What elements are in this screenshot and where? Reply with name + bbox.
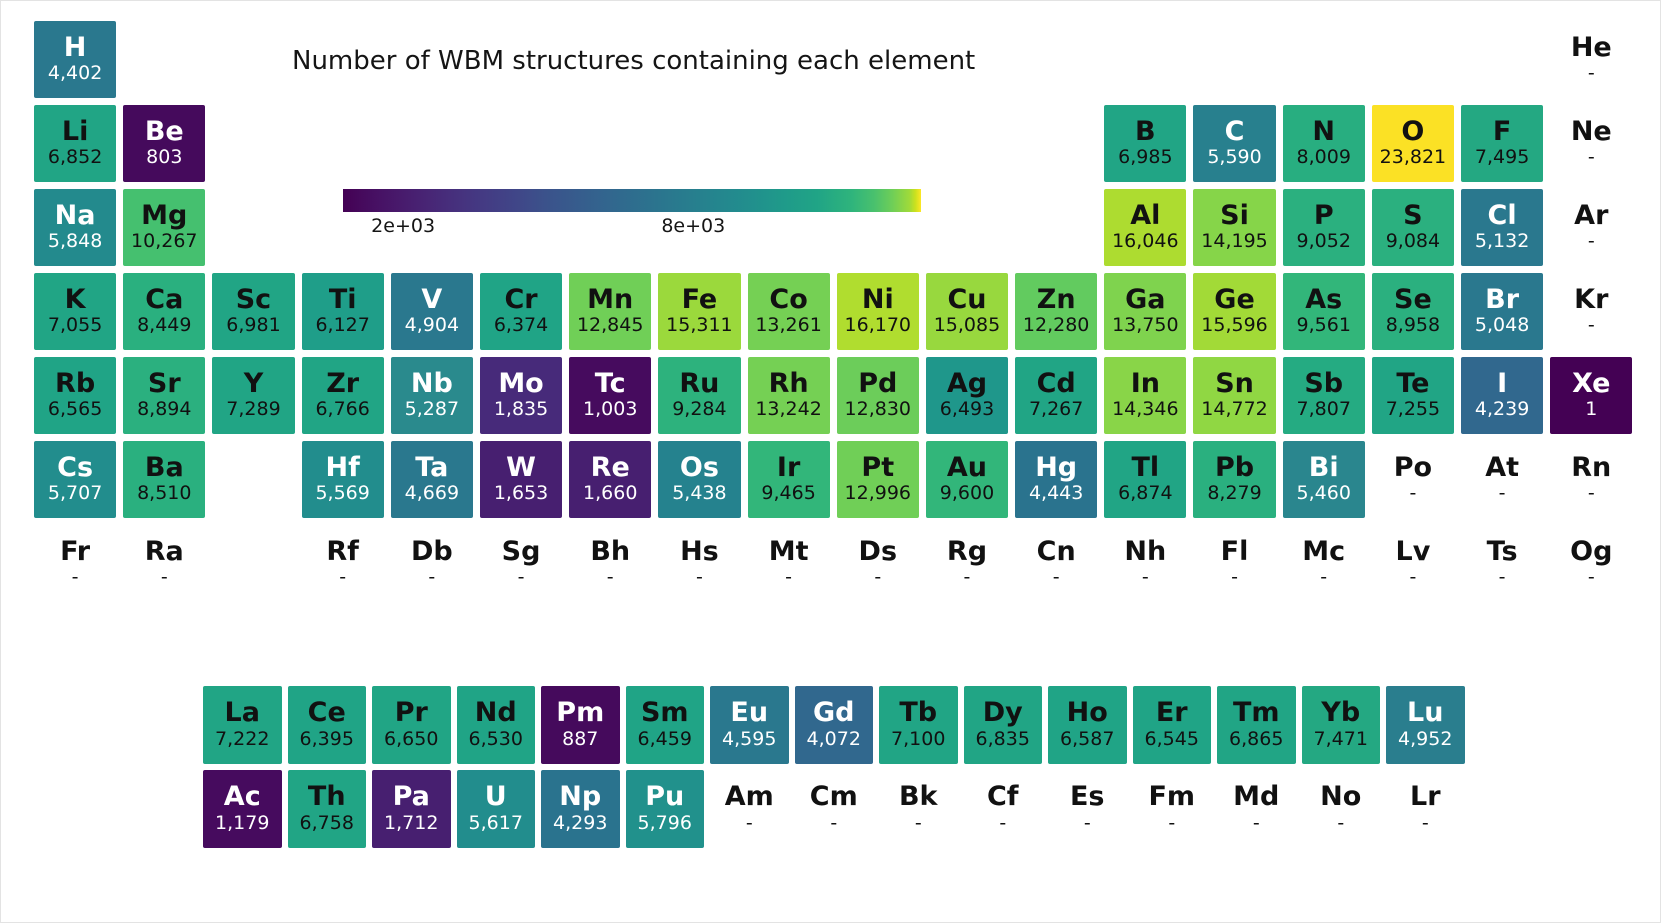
- element-value: 5,617: [469, 813, 523, 835]
- element-symbol: Cl: [1488, 202, 1517, 230]
- element-value: 7,055: [48, 315, 102, 337]
- element-value: 4,402: [48, 63, 102, 85]
- element-cell-i[interactable]: I4,239: [1461, 357, 1543, 434]
- element-cell-pm[interactable]: Pm887: [541, 686, 620, 764]
- element-value: -: [161, 567, 168, 589]
- element-symbol: Rb: [55, 370, 95, 398]
- element-symbol: Na: [55, 202, 96, 230]
- element-symbol: La: [225, 699, 260, 727]
- element-cell-lr[interactable]: Lr-: [1386, 770, 1465, 848]
- element-value: -: [1231, 567, 1238, 589]
- element-symbol: Am: [725, 783, 774, 811]
- element-value: 6,874: [1118, 483, 1172, 505]
- element-value: 6,650: [384, 729, 438, 751]
- element-value: -: [964, 567, 971, 589]
- element-value: 9,465: [761, 483, 815, 505]
- element-symbol: Tl: [1132, 454, 1160, 482]
- element-value: -: [1588, 63, 1595, 85]
- element-symbol: Bk: [899, 783, 938, 811]
- element-cell-sb[interactable]: Sb7,807: [1283, 357, 1365, 434]
- element-cell-sc[interactable]: Sc6,981: [212, 273, 294, 350]
- element-value: 6,493: [940, 399, 994, 421]
- element-symbol: Zn: [1037, 286, 1076, 314]
- element-cell-nd[interactable]: Nd6,530: [457, 686, 536, 764]
- element-symbol: Cs: [57, 454, 93, 482]
- periodic-table-heatmap: Number of WBM structures containing each…: [0, 0, 1661, 923]
- element-value: 6,766: [315, 399, 369, 421]
- element-value: -: [339, 567, 346, 589]
- element-value: 803: [146, 147, 182, 169]
- element-cell-rf[interactable]: Rf-: [302, 525, 384, 602]
- element-symbol: Sb: [1304, 370, 1343, 398]
- f-block-grid: La7,222Ce6,395Pr6,650Nd6,530Pm887Sm6,459…: [203, 686, 1471, 854]
- element-cell-ir[interactable]: Ir9,465: [748, 441, 830, 518]
- element-symbol: Ac: [224, 783, 261, 811]
- element-symbol: Md: [1233, 783, 1279, 811]
- element-value: -: [1588, 567, 1595, 589]
- element-value: -: [1422, 813, 1429, 835]
- element-value: 12,996: [845, 483, 911, 505]
- element-symbol: H: [64, 34, 87, 62]
- element-cell-ho[interactable]: Ho6,587: [1048, 686, 1127, 764]
- element-cell-pa[interactable]: Pa1,712: [372, 770, 451, 848]
- element-value: 7,471: [1314, 729, 1368, 751]
- element-symbol: Hs: [680, 538, 719, 566]
- element-symbol: Os: [680, 454, 719, 482]
- element-value: 7,495: [1475, 147, 1529, 169]
- element-value: 14,346: [1112, 399, 1178, 421]
- element-cell-u[interactable]: U5,617: [457, 770, 536, 848]
- element-symbol: S: [1403, 202, 1422, 230]
- element-symbol: Au: [947, 454, 987, 482]
- element-value: 7,289: [226, 399, 280, 421]
- element-cell-md[interactable]: Md-: [1217, 770, 1296, 848]
- element-symbol: Po: [1394, 454, 1432, 482]
- element-cell-ta[interactable]: Ta4,669: [391, 441, 473, 518]
- element-value: 7,267: [1029, 399, 1083, 421]
- element-symbol: Be: [145, 118, 184, 146]
- element-cell-br[interactable]: Br5,048: [1461, 273, 1543, 350]
- element-value: 1,835: [494, 399, 548, 421]
- element-cell-lu[interactable]: Lu4,952: [1386, 686, 1465, 764]
- element-cell-xe[interactable]: Xe1: [1550, 357, 1632, 434]
- element-symbol: No: [1320, 783, 1361, 811]
- element-cell-v[interactable]: V4,904: [391, 273, 473, 350]
- element-value: -: [696, 567, 703, 589]
- element-value: 6,852: [48, 147, 102, 169]
- element-cell-k[interactable]: K7,055: [34, 273, 116, 350]
- element-value: 8,279: [1207, 483, 1261, 505]
- element-cell-pd[interactable]: Pd12,830: [837, 357, 919, 434]
- element-symbol: Pd: [858, 370, 897, 398]
- element-value: 8,449: [137, 315, 191, 337]
- element-cell-cn[interactable]: Cn-: [1015, 525, 1097, 602]
- element-symbol: Te: [1396, 370, 1429, 398]
- element-value: 5,848: [48, 231, 102, 253]
- element-cell-po[interactable]: Po-: [1372, 441, 1454, 518]
- element-cell-th[interactable]: Th6,758: [288, 770, 367, 848]
- element-value: 5,707: [48, 483, 102, 505]
- element-symbol: Co: [769, 286, 807, 314]
- element-cell-ca[interactable]: Ca8,449: [123, 273, 205, 350]
- element-symbol: Nb: [411, 370, 453, 398]
- element-cell-te[interactable]: Te7,255: [1372, 357, 1454, 434]
- element-cell-os[interactable]: Os5,438: [658, 441, 740, 518]
- element-symbol: Y: [244, 370, 264, 398]
- element-cell-au[interactable]: Au9,600: [926, 441, 1008, 518]
- element-cell-pt[interactable]: Pt12,996: [837, 441, 919, 518]
- element-symbol: F: [1493, 118, 1511, 146]
- element-cell-rn[interactable]: Rn-: [1550, 441, 1632, 518]
- element-cell-ne[interactable]: Ne-: [1550, 105, 1632, 182]
- element-cell-zr[interactable]: Zr6,766: [302, 357, 384, 434]
- element-value: 4,904: [405, 315, 459, 337]
- element-value: -: [1588, 315, 1595, 337]
- element-symbol: Se: [1394, 286, 1432, 314]
- element-value: 6,985: [1118, 147, 1172, 169]
- element-symbol: Si: [1220, 202, 1249, 230]
- element-symbol: Rf: [326, 538, 359, 566]
- element-cell-eu[interactable]: Eu4,595: [710, 686, 789, 764]
- element-cell-hg[interactable]: Hg4,443: [1015, 441, 1097, 518]
- element-cell-tb[interactable]: Tb7,100: [879, 686, 958, 764]
- element-value: 8,510: [137, 483, 191, 505]
- element-symbol: Pa: [393, 783, 430, 811]
- element-value: -: [746, 813, 753, 835]
- element-value: 10,267: [131, 231, 197, 253]
- element-symbol: Er: [1156, 699, 1188, 727]
- element-cell-am[interactable]: Am-: [710, 770, 789, 848]
- element-cell-ni[interactable]: Ni16,170: [837, 273, 919, 350]
- element-symbol: Ra: [145, 538, 184, 566]
- element-cell-mn[interactable]: Mn12,845: [569, 273, 651, 350]
- element-cell-kr[interactable]: Kr-: [1550, 273, 1632, 350]
- element-value: 6,865: [1229, 729, 1283, 751]
- element-cell-ag[interactable]: Ag6,493: [926, 357, 1008, 434]
- element-cell-w[interactable]: W1,653: [480, 441, 562, 518]
- element-value: 13,261: [755, 315, 821, 337]
- element-symbol: Rh: [769, 370, 809, 398]
- element-value: 8,009: [1297, 147, 1351, 169]
- element-cell-na[interactable]: Na5,848: [34, 189, 116, 266]
- element-value: 15,596: [1201, 315, 1267, 337]
- element-cell-hs[interactable]: Hs-: [658, 525, 740, 602]
- element-symbol: N: [1312, 118, 1335, 146]
- element-cell-ce[interactable]: Ce6,395: [288, 686, 367, 764]
- element-symbol: Ce: [308, 699, 346, 727]
- element-value: 9,600: [940, 483, 994, 505]
- main-table-grid: H4,402He-Li6,852Be803B6,985C5,590N8,009O…: [34, 21, 1639, 609]
- element-cell-fe[interactable]: Fe15,311: [658, 273, 740, 350]
- element-value: 5,590: [1207, 147, 1261, 169]
- element-symbol: Ar: [1574, 202, 1608, 230]
- element-cell-cr[interactable]: Cr6,374: [480, 273, 562, 350]
- element-cell-ti[interactable]: Ti6,127: [302, 273, 384, 350]
- element-cell-er[interactable]: Er6,545: [1133, 686, 1212, 764]
- element-cell-rg[interactable]: Rg-: [926, 525, 1008, 602]
- element-cell-ge[interactable]: Ge15,596: [1193, 273, 1275, 350]
- element-value: 5,287: [405, 399, 459, 421]
- element-cell-rh[interactable]: Rh13,242: [748, 357, 830, 434]
- element-value: 6,758: [300, 813, 354, 835]
- element-cell-og[interactable]: Og-: [1550, 525, 1632, 602]
- element-symbol: Th: [308, 783, 346, 811]
- element-value: -: [72, 567, 79, 589]
- element-symbol: Ni: [862, 286, 894, 314]
- element-cell-mg[interactable]: Mg10,267: [123, 189, 205, 266]
- element-symbol: Np: [559, 783, 601, 811]
- element-value: 16,170: [845, 315, 911, 337]
- element-cell-db[interactable]: Db-: [391, 525, 473, 602]
- element-cell-mo[interactable]: Mo1,835: [480, 357, 562, 434]
- element-cell-be[interactable]: Be803: [123, 105, 205, 182]
- element-cell-gd[interactable]: Gd4,072: [795, 686, 874, 764]
- element-cell-f[interactable]: F7,495: [1461, 105, 1543, 182]
- element-cell-pu[interactable]: Pu5,796: [626, 770, 705, 848]
- element-symbol: Tb: [899, 699, 937, 727]
- element-cell-as[interactable]: As9,561: [1283, 273, 1365, 350]
- element-value: 13,242: [755, 399, 821, 421]
- element-value: 8,958: [1386, 315, 1440, 337]
- element-cell-si[interactable]: Si14,195: [1193, 189, 1275, 266]
- element-cell-cl[interactable]: Cl5,132: [1461, 189, 1543, 266]
- element-cell-c[interactable]: C5,590: [1193, 105, 1275, 182]
- element-value: 5,569: [315, 483, 369, 505]
- element-value: 16,046: [1112, 231, 1178, 253]
- element-symbol: As: [1305, 286, 1342, 314]
- element-cell-fr[interactable]: Fr-: [34, 525, 116, 602]
- element-symbol: Pb: [1215, 454, 1254, 482]
- element-cell-fm[interactable]: Fm-: [1133, 770, 1212, 848]
- element-cell-ba[interactable]: Ba8,510: [123, 441, 205, 518]
- element-symbol: V: [421, 286, 442, 314]
- element-cell-nb[interactable]: Nb5,287: [391, 357, 473, 434]
- element-value: 6,981: [226, 315, 280, 337]
- element-cell-la[interactable]: La7,222: [203, 686, 282, 764]
- element-cell-bi[interactable]: Bi5,460: [1283, 441, 1365, 518]
- element-symbol: Og: [1570, 538, 1612, 566]
- element-value: 12,845: [577, 315, 643, 337]
- element-value: -: [1084, 813, 1091, 835]
- element-cell-zn[interactable]: Zn12,280: [1015, 273, 1097, 350]
- element-value: -: [1337, 813, 1344, 835]
- element-value: -: [1588, 231, 1595, 253]
- element-value: -: [1409, 483, 1416, 505]
- element-value: 9,084: [1386, 231, 1440, 253]
- element-value: -: [1588, 483, 1595, 505]
- element-cell-he[interactable]: He-: [1550, 21, 1632, 98]
- element-value: 4,952: [1398, 729, 1452, 751]
- element-symbol: Pu: [645, 783, 684, 811]
- element-cell-n[interactable]: N8,009: [1283, 105, 1365, 182]
- element-value: 5,460: [1297, 483, 1351, 505]
- element-value: 1,712: [384, 813, 438, 835]
- element-cell-b[interactable]: B6,985: [1104, 105, 1186, 182]
- element-symbol: Rn: [1571, 454, 1611, 482]
- element-value: 6,374: [494, 315, 548, 337]
- element-value: -: [830, 813, 837, 835]
- element-value: 6,565: [48, 399, 102, 421]
- element-symbol: Cd: [1037, 370, 1076, 398]
- element-cell-se[interactable]: Se8,958: [1372, 273, 1454, 350]
- element-value: -: [428, 567, 435, 589]
- element-value: 14,772: [1201, 399, 1267, 421]
- element-cell-ra[interactable]: Ra-: [123, 525, 205, 602]
- element-cell-p[interactable]: P9,052: [1283, 189, 1365, 266]
- element-cell-cd[interactable]: Cd7,267: [1015, 357, 1097, 434]
- element-value: 7,100: [891, 729, 945, 751]
- element-cell-mc[interactable]: Mc-: [1283, 525, 1365, 602]
- element-cell-cf[interactable]: Cf-: [964, 770, 1043, 848]
- element-cell-h[interactable]: H4,402: [34, 21, 116, 98]
- element-symbol: Tm: [1233, 699, 1280, 727]
- element-value: 9,561: [1297, 315, 1351, 337]
- element-value: -: [1142, 567, 1149, 589]
- element-value: 1,179: [215, 813, 269, 835]
- element-cell-cm[interactable]: Cm-: [795, 770, 874, 848]
- element-cell-ds[interactable]: Ds-: [837, 525, 919, 602]
- element-symbol: Cn: [1037, 538, 1076, 566]
- element-symbol: Ds: [859, 538, 897, 566]
- element-cell-al[interactable]: Al16,046: [1104, 189, 1186, 266]
- element-cell-tc[interactable]: Tc1,003: [569, 357, 651, 434]
- element-value: -: [1168, 813, 1175, 835]
- element-symbol: Lu: [1407, 699, 1443, 727]
- element-value: 5,048: [1475, 315, 1529, 337]
- element-symbol: Mg: [141, 202, 187, 230]
- element-symbol: C: [1225, 118, 1245, 146]
- element-cell-pr[interactable]: Pr6,650: [372, 686, 451, 764]
- element-value: -: [1499, 567, 1506, 589]
- element-symbol: Sc: [236, 286, 271, 314]
- element-symbol: Dy: [983, 699, 1023, 727]
- element-value: -: [999, 813, 1006, 835]
- element-cell-ts[interactable]: Ts-: [1461, 525, 1543, 602]
- element-cell-cs[interactable]: Cs5,707: [34, 441, 116, 518]
- element-cell-es[interactable]: Es-: [1048, 770, 1127, 848]
- element-cell-mt[interactable]: Mt-: [748, 525, 830, 602]
- element-cell-li[interactable]: Li6,852: [34, 105, 116, 182]
- element-symbol: Hf: [325, 454, 359, 482]
- element-cell-yb[interactable]: Yb7,471: [1302, 686, 1381, 764]
- element-value: 9,284: [672, 399, 726, 421]
- element-symbol: Tc: [595, 370, 626, 398]
- element-symbol: Sg: [502, 538, 541, 566]
- element-symbol: Bi: [1309, 454, 1339, 482]
- element-value: -: [1409, 567, 1416, 589]
- element-value: 4,595: [722, 729, 776, 751]
- element-cell-o[interactable]: O23,821: [1372, 105, 1454, 182]
- element-value: 4,072: [807, 729, 861, 751]
- element-value: 5,438: [672, 483, 726, 505]
- element-symbol: Al: [1130, 202, 1160, 230]
- element-symbol: Lr: [1410, 783, 1441, 811]
- element-cell-bh[interactable]: Bh-: [569, 525, 651, 602]
- element-symbol: Sm: [641, 699, 689, 727]
- element-cell-rb[interactable]: Rb6,565: [34, 357, 116, 434]
- element-symbol: At: [1485, 454, 1519, 482]
- element-cell-sg[interactable]: Sg-: [480, 525, 562, 602]
- element-value: 6,587: [1060, 729, 1114, 751]
- element-value: 4,443: [1029, 483, 1083, 505]
- element-symbol: Fe: [682, 286, 718, 314]
- element-symbol: Xe: [1572, 370, 1610, 398]
- element-symbol: Rg: [947, 538, 987, 566]
- element-cell-np[interactable]: Np4,293: [541, 770, 620, 848]
- element-cell-y[interactable]: Y7,289: [212, 357, 294, 434]
- element-cell-tl[interactable]: Tl6,874: [1104, 441, 1186, 518]
- element-symbol: Kr: [1574, 286, 1608, 314]
- element-cell-dy[interactable]: Dy6,835: [964, 686, 1043, 764]
- element-cell-at[interactable]: At-: [1461, 441, 1543, 518]
- element-value: 6,835: [976, 729, 1030, 751]
- element-cell-tm[interactable]: Tm6,865: [1217, 686, 1296, 764]
- element-value: 14,195: [1201, 231, 1267, 253]
- element-symbol: I: [1497, 370, 1507, 398]
- element-cell-sr[interactable]: Sr8,894: [123, 357, 205, 434]
- element-cell-ga[interactable]: Ga13,750: [1104, 273, 1186, 350]
- element-cell-co[interactable]: Co13,261: [748, 273, 830, 350]
- element-value: -: [785, 567, 792, 589]
- element-value: 6,530: [469, 729, 523, 751]
- element-cell-hf[interactable]: Hf5,569: [302, 441, 384, 518]
- element-cell-in[interactable]: In14,346: [1104, 357, 1186, 434]
- element-value: 9,052: [1297, 231, 1351, 253]
- element-symbol: Ne: [1571, 118, 1612, 146]
- element-symbol: Mn: [587, 286, 633, 314]
- element-symbol: He: [1571, 34, 1612, 62]
- element-cell-sn[interactable]: Sn14,772: [1193, 357, 1275, 434]
- element-cell-lv[interactable]: Lv-: [1372, 525, 1454, 602]
- element-cell-ru[interactable]: Ru9,284: [658, 357, 740, 434]
- element-value: -: [1320, 567, 1327, 589]
- element-cell-s[interactable]: S9,084: [1372, 189, 1454, 266]
- element-value: 1: [1585, 399, 1597, 421]
- element-symbol: Yb: [1321, 699, 1360, 727]
- element-value: 6,127: [315, 315, 369, 337]
- element-symbol: Ti: [329, 286, 357, 314]
- element-symbol: Pt: [861, 454, 894, 482]
- element-value: -: [874, 567, 881, 589]
- element-symbol: Cf: [987, 783, 1019, 811]
- element-cell-sm[interactable]: Sm6,459: [626, 686, 705, 764]
- element-cell-re[interactable]: Re1,660: [569, 441, 651, 518]
- element-cell-cu[interactable]: Cu15,085: [926, 273, 1008, 350]
- element-symbol: Pm: [556, 699, 604, 727]
- element-cell-ar[interactable]: Ar-: [1550, 189, 1632, 266]
- element-cell-bk[interactable]: Bk-: [879, 770, 958, 848]
- element-value: 6,545: [1145, 729, 1199, 751]
- element-symbol: P: [1314, 202, 1334, 230]
- element-symbol: Ge: [1214, 286, 1254, 314]
- element-value: 7,255: [1386, 399, 1440, 421]
- element-cell-nh[interactable]: Nh-: [1104, 525, 1186, 602]
- element-symbol: Ir: [777, 454, 800, 482]
- element-symbol: Ts: [1487, 538, 1518, 566]
- element-symbol: Fr: [60, 538, 90, 566]
- element-value: -: [915, 813, 922, 835]
- element-symbol: Sr: [148, 370, 181, 398]
- element-value: 23,821: [1380, 147, 1446, 169]
- element-value: 7,222: [215, 729, 269, 751]
- element-cell-fl[interactable]: Fl-: [1193, 525, 1275, 602]
- element-cell-ac[interactable]: Ac1,179: [203, 770, 282, 848]
- element-value: -: [1053, 567, 1060, 589]
- element-cell-no[interactable]: No-: [1302, 770, 1381, 848]
- element-cell-pb[interactable]: Pb8,279: [1193, 441, 1275, 518]
- element-symbol: Eu: [730, 699, 768, 727]
- element-symbol: Ho: [1067, 699, 1108, 727]
